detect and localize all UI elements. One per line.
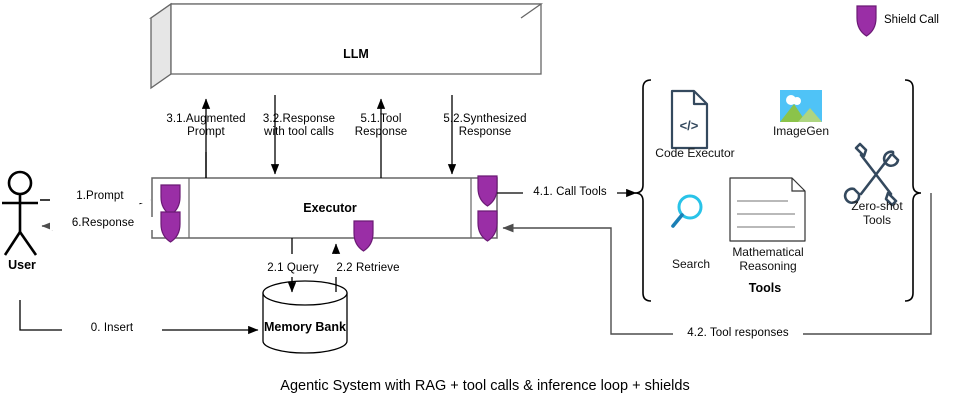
edge-label-tool-responses: 4.2. Tool responses bbox=[673, 327, 803, 340]
crossed-wrenches-icon bbox=[845, 144, 898, 205]
shield-icon-executor-memory bbox=[354, 221, 373, 251]
tool-label-search: Search bbox=[660, 257, 722, 271]
edge-label-retrieve: 2.2 Retrieve bbox=[328, 262, 408, 275]
edge-label-insert: 0. Insert bbox=[62, 322, 162, 335]
image-photo-icon bbox=[780, 90, 822, 122]
edge-label-response: 6.Response bbox=[50, 217, 156, 230]
code-document-icon: </> bbox=[672, 91, 707, 148]
svg-text:</>: </> bbox=[680, 118, 699, 133]
diagram-canvas: </> bbox=[0, 0, 970, 411]
tool-label-zero-shot-tools: Zero-shot Tools bbox=[838, 199, 916, 227]
edge-label-query: 2.1 Query bbox=[258, 262, 328, 275]
memory-bank-node bbox=[263, 281, 347, 353]
legend-shield-label: Shield Call bbox=[884, 14, 939, 26]
user-actor bbox=[2, 172, 38, 255]
tools-left-brace bbox=[635, 80, 651, 301]
edge-label-call-tools: 4.1. Call Tools bbox=[523, 186, 617, 199]
llm-label: LLM bbox=[171, 47, 541, 61]
magnifier-icon bbox=[673, 196, 701, 226]
memory-bank-label: Memory Bank bbox=[255, 320, 355, 334]
diagram-svg: </> bbox=[0, 0, 970, 411]
llm-node bbox=[151, 4, 541, 88]
shield-icon-legend bbox=[857, 6, 876, 36]
executor-label: Executor bbox=[189, 201, 471, 215]
edge-label-prompt: 1.Prompt bbox=[50, 190, 150, 203]
formula-document-icon bbox=[730, 178, 805, 241]
user-label: User bbox=[0, 258, 44, 272]
tool-label-math-reasoning: Mathematical Reasoning bbox=[722, 245, 814, 273]
diagram-caption: Agentic System with RAG + tool calls & i… bbox=[0, 378, 970, 394]
edge-label-tool-response: 5.1.Tool Response bbox=[334, 113, 428, 139]
tools-right-brace bbox=[905, 80, 921, 301]
edge-label-synthesized-response: 5.2.Synthesized Response bbox=[420, 113, 550, 139]
tool-label-code-executor: Code Executor bbox=[645, 146, 745, 160]
tool-label-imagegen: ImageGen bbox=[761, 124, 841, 138]
tools-group-label: Tools bbox=[720, 281, 810, 295]
